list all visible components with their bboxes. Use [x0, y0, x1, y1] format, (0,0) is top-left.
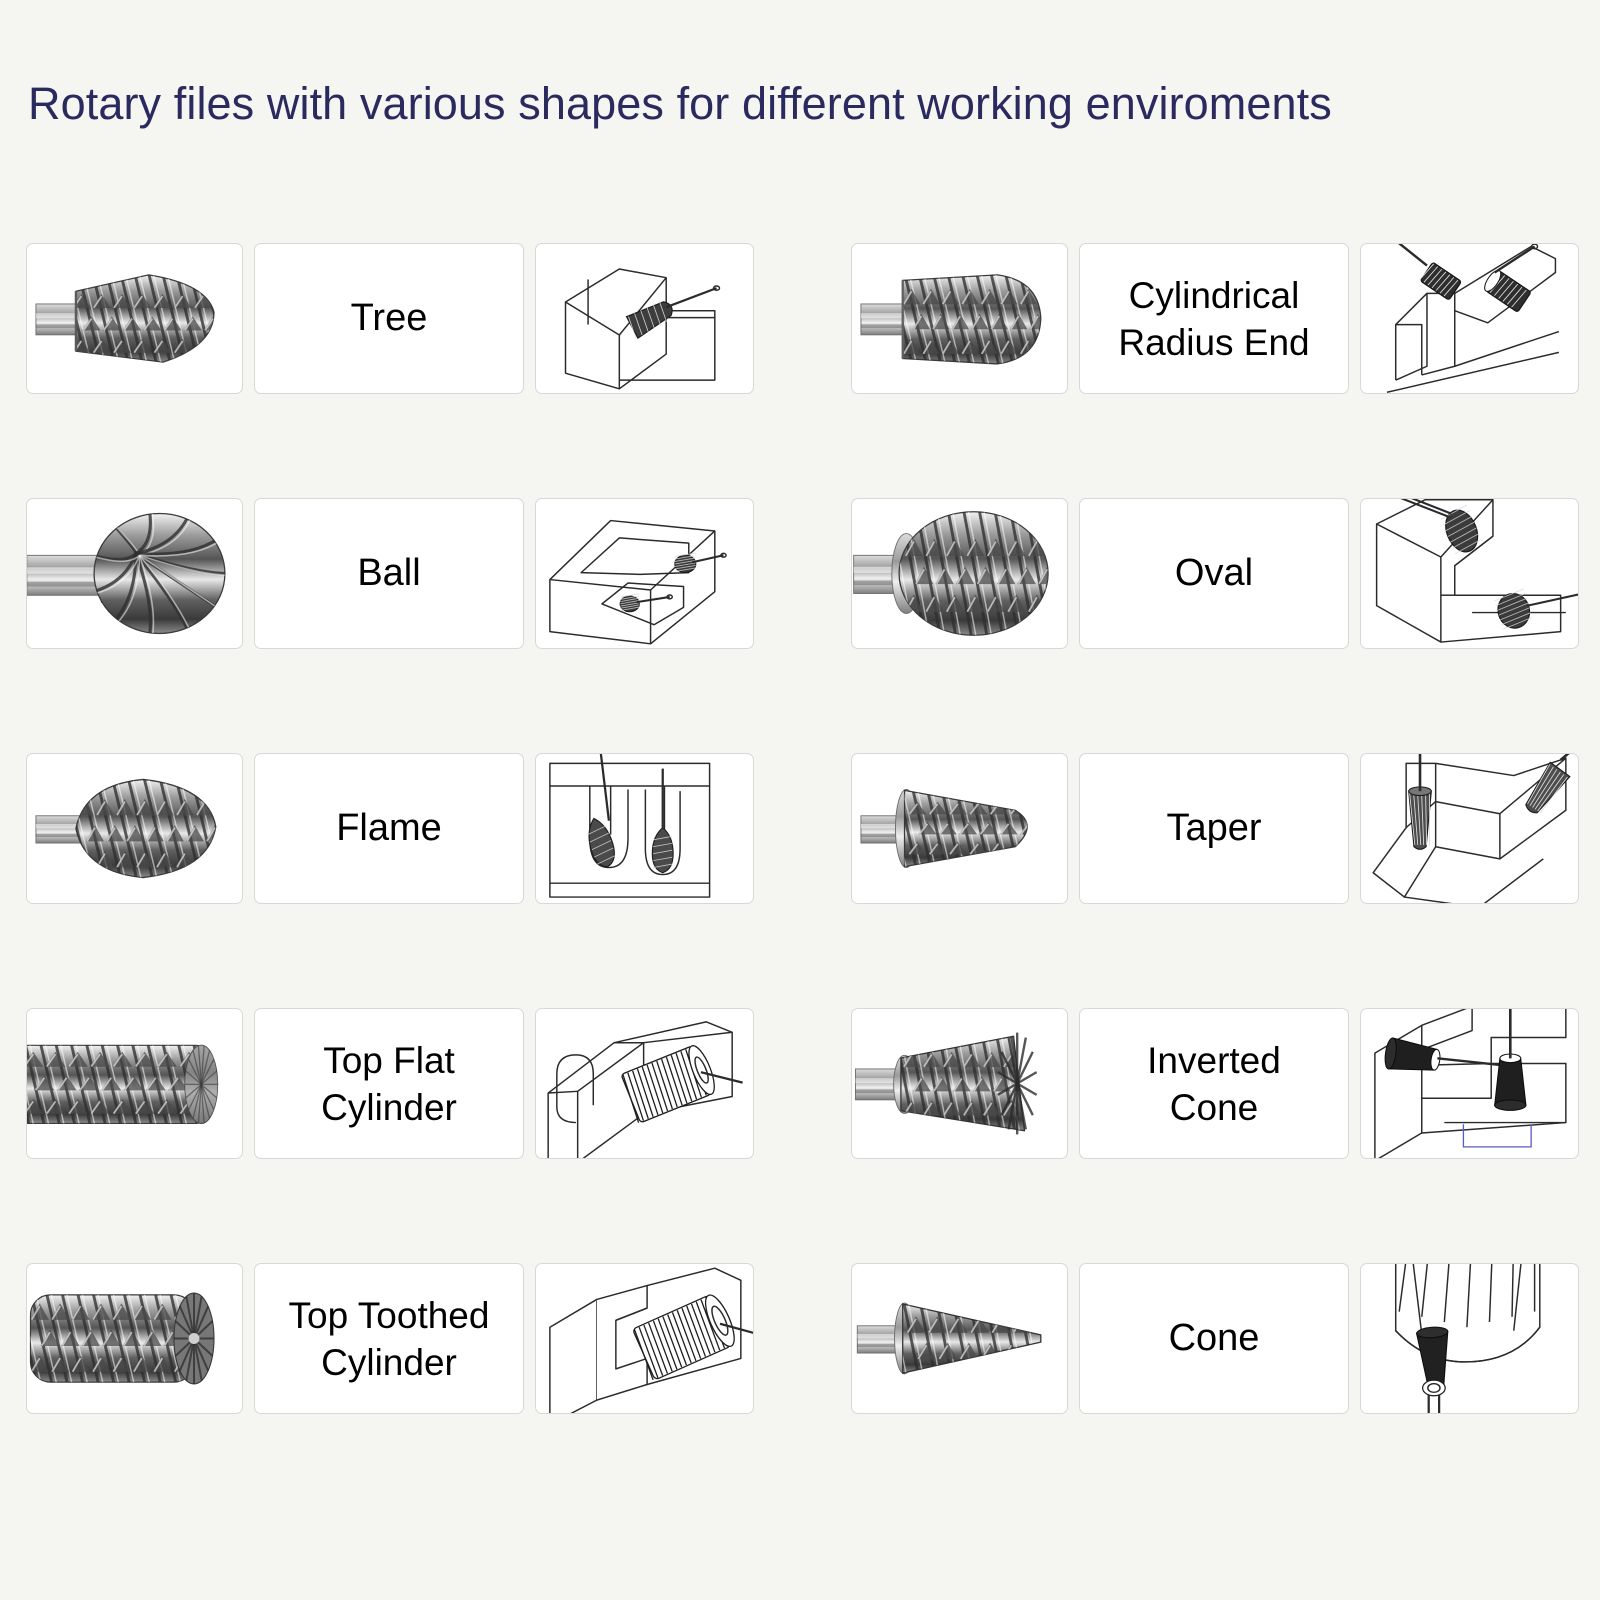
shape-label-line: Cylinder	[321, 1342, 457, 1383]
product-photo-card-top-flat-cylinder[interactable]	[26, 1008, 243, 1159]
shape-label-line: Cylindrical	[1129, 275, 1300, 316]
oval-burr-application-diagram	[1361, 499, 1578, 648]
shape-label-line: Radius End	[1118, 322, 1309, 363]
shape-row-flame: Flame	[26, 753, 754, 904]
shape-label-line: Inverted	[1147, 1040, 1281, 1081]
shapes-grid: Tree	[26, 243, 1580, 1414]
application-diagram-card-cylindrical-radius-end[interactable]	[1360, 243, 1579, 394]
cylindrical-radius-end-burr-photo	[852, 244, 1067, 393]
cylindrical-radius-end-burr-application-diagram	[1361, 244, 1578, 393]
shape-label-line: Oval	[1175, 552, 1253, 594]
product-photo-card-ball[interactable]	[26, 498, 243, 649]
shape-label-line: Cone	[1170, 1087, 1258, 1128]
shape-row-inverted-cone: InvertedCone	[851, 1008, 1579, 1159]
product-photo-card-flame[interactable]	[26, 753, 243, 904]
application-diagram-card-oval[interactable]	[1360, 498, 1579, 649]
top-toothed-cylinder-burr-application-diagram	[536, 1264, 753, 1413]
shape-row-top-toothed-cylinder: Top ToothedCylinder	[26, 1263, 754, 1414]
shape-label-flame: Flame	[336, 805, 442, 852]
top-toothed-cylinder-burr-photo	[27, 1264, 242, 1413]
top-flat-cylinder-burr-photo	[27, 1009, 242, 1158]
product-photo-card-top-toothed-cylinder[interactable]	[26, 1263, 243, 1414]
label-card-taper[interactable]: Taper	[1079, 753, 1349, 904]
product-photo-card-tree[interactable]	[26, 243, 243, 394]
label-card-top-toothed-cylinder[interactable]: Top ToothedCylinder	[254, 1263, 524, 1414]
infographic-page: Rotary files with various shapes for dif…	[0, 0, 1600, 1600]
product-photo-card-oval[interactable]	[851, 498, 1068, 649]
product-photo-card-cone[interactable]	[851, 1263, 1068, 1414]
shape-label-line: Ball	[357, 552, 420, 594]
application-diagram-card-taper[interactable]	[1360, 753, 1579, 904]
application-diagram-card-ball[interactable]	[535, 498, 754, 649]
shape-label-oval: Oval	[1175, 550, 1253, 597]
cone-burr-application-diagram	[1361, 1264, 1578, 1413]
label-card-top-flat-cylinder[interactable]: Top FlatCylinder	[254, 1008, 524, 1159]
shape-label-line: Cone	[1169, 1317, 1260, 1359]
label-card-cone[interactable]: Cone	[1079, 1263, 1349, 1414]
left-column: Tree	[26, 243, 754, 1414]
shape-row-ball: Ball	[26, 498, 754, 649]
label-card-ball[interactable]: Ball	[254, 498, 524, 649]
shape-row-oval: Oval	[851, 498, 1579, 649]
ball-burr-application-diagram	[536, 499, 753, 648]
application-diagram-card-top-flat-cylinder[interactable]	[535, 1008, 754, 1159]
label-card-flame[interactable]: Flame	[254, 753, 524, 904]
label-card-cylindrical-radius-end[interactable]: CylindricalRadius End	[1079, 243, 1349, 394]
shape-label-top-toothed-cylinder: Top ToothedCylinder	[289, 1292, 490, 1386]
shape-label-line: Tree	[351, 297, 428, 339]
cone-burr-photo	[852, 1264, 1067, 1413]
shape-row-taper: Taper	[851, 753, 1579, 904]
shape-label-line: Flame	[336, 807, 442, 849]
inverted-cone-burr-photo	[852, 1009, 1067, 1158]
tree-burr-photo	[27, 244, 242, 393]
shape-row-cone: Cone	[851, 1263, 1579, 1414]
shape-row-cylindrical-radius-end: CylindricalRadius End	[851, 243, 1579, 394]
shape-label-inverted-cone: InvertedCone	[1147, 1037, 1281, 1131]
application-diagram-card-inverted-cone[interactable]	[1360, 1008, 1579, 1159]
shape-label-line: Cylinder	[321, 1087, 457, 1128]
shape-label-line: Top Flat	[323, 1040, 455, 1081]
application-diagram-card-flame[interactable]	[535, 753, 754, 904]
top-flat-cylinder-burr-application-diagram	[536, 1009, 753, 1158]
shape-label-line: Top Toothed	[289, 1295, 490, 1336]
right-column: CylindricalRadius End Oval	[851, 243, 1579, 1414]
shape-label-taper: Taper	[1166, 805, 1261, 852]
taper-burr-application-diagram	[1361, 754, 1578, 903]
ball-burr-photo	[27, 499, 242, 648]
application-diagram-card-top-toothed-cylinder[interactable]	[535, 1263, 754, 1414]
shape-row-top-flat-cylinder: Top FlatCylinder	[26, 1008, 754, 1159]
flame-burr-photo	[27, 754, 242, 903]
shape-label-top-flat-cylinder: Top FlatCylinder	[321, 1037, 457, 1131]
shape-label-ball: Ball	[357, 550, 420, 597]
application-diagram-card-cone[interactable]	[1360, 1263, 1579, 1414]
shape-row-tree: Tree	[26, 243, 754, 394]
label-card-tree[interactable]: Tree	[254, 243, 524, 394]
flame-burr-application-diagram	[536, 754, 753, 903]
shape-label-cylindrical-radius-end: CylindricalRadius End	[1118, 272, 1309, 366]
shape-label-tree: Tree	[351, 295, 428, 342]
product-photo-card-taper[interactable]	[851, 753, 1068, 904]
shape-label-cone: Cone	[1169, 1315, 1260, 1362]
oval-burr-photo	[852, 499, 1067, 648]
page-title: Rotary files with various shapes for dif…	[28, 76, 1332, 132]
application-diagram-card-tree[interactable]	[535, 243, 754, 394]
product-photo-card-inverted-cone[interactable]	[851, 1008, 1068, 1159]
product-photo-card-cylindrical-radius-end[interactable]	[851, 243, 1068, 394]
inverted-cone-burr-application-diagram	[1361, 1009, 1578, 1158]
shape-label-line: Taper	[1166, 807, 1261, 849]
label-card-inverted-cone[interactable]: InvertedCone	[1079, 1008, 1349, 1159]
tree-burr-application-diagram	[536, 244, 753, 393]
label-card-oval[interactable]: Oval	[1079, 498, 1349, 649]
taper-burr-photo	[852, 754, 1067, 903]
